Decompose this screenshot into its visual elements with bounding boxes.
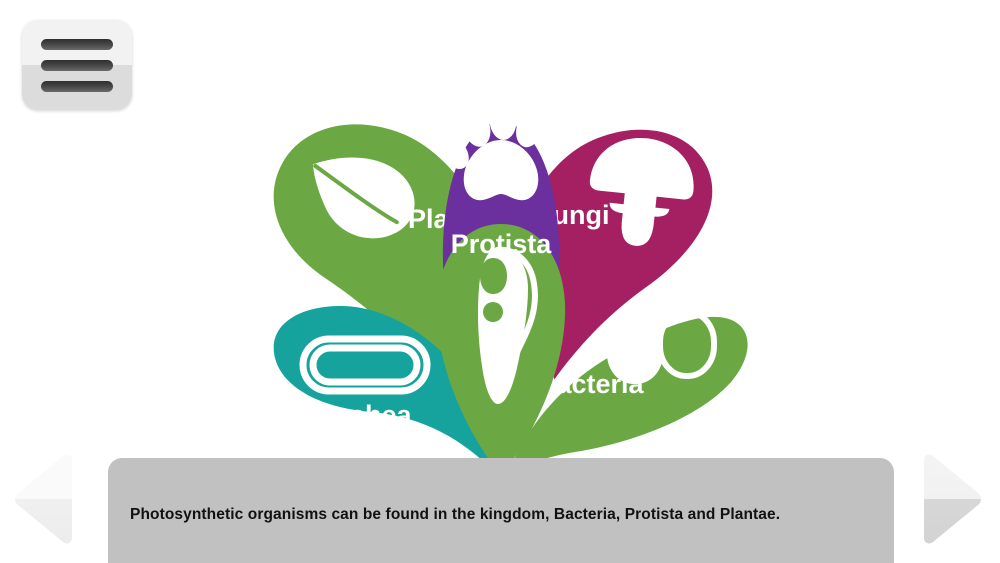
- hamburger-bar-middle: [41, 60, 113, 71]
- petal-label-protista: Protista: [451, 229, 553, 259]
- triangle-left-icon: [15, 455, 72, 544]
- caption-panel: Photosynthetic organisms can be found in…: [108, 458, 894, 563]
- app-root: Plantae Fungi Archea: [0, 0, 1000, 563]
- hamburger-bar-bottom: [41, 81, 113, 92]
- triangle-right-icon: [924, 455, 981, 544]
- hamburger-bar-top: [41, 39, 113, 50]
- petal-label-animalia: Animalia: [443, 63, 560, 94]
- petal-label-archea: Archea: [320, 400, 413, 430]
- previous-button[interactable]: [10, 452, 80, 546]
- hamburger-menu-button[interactable]: [22, 20, 132, 110]
- kingdoms-flower-diagram: Plantae Fungi Archea: [245, 10, 765, 490]
- next-button[interactable]: [916, 452, 986, 546]
- caption-text: Photosynthetic organisms can be found in…: [130, 506, 780, 524]
